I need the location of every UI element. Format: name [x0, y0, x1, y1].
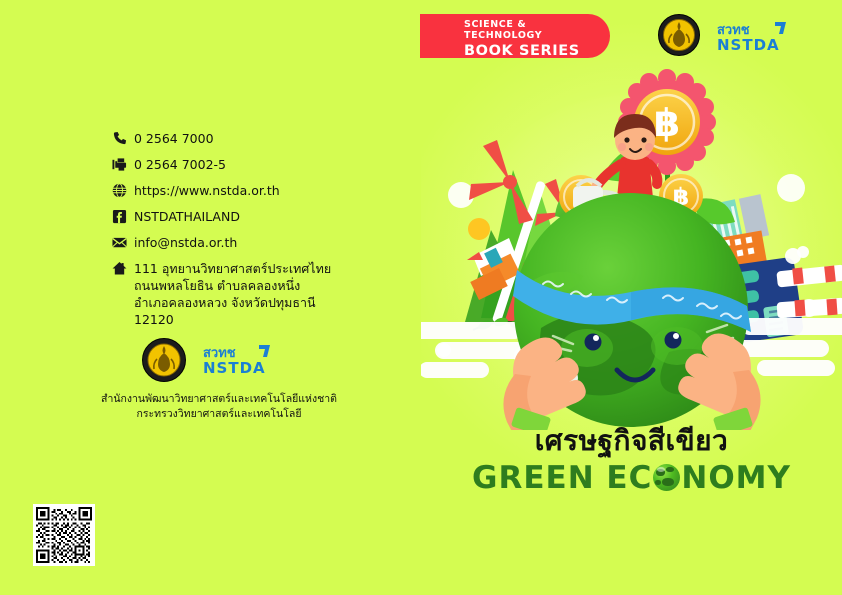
ministry-seal-icon: [142, 338, 186, 382]
contact-row-website: https://www.nstda.or.th: [112, 182, 372, 199]
contact-row-fax: 0 2564 7002-5: [112, 156, 372, 173]
home-icon: [112, 260, 134, 276]
book-cover-page: ฿ ฿ ฿: [0, 0, 842, 595]
contact-row-address: 111 อุทยานวิทยาศาสตร์ประเทศไทย ถนนพหลโยธ…: [112, 260, 372, 328]
badge-line-1: SCIENCE &: [464, 19, 580, 30]
book-title: เศรษฐกิจสีเขียว GREEN ECNOMY: [421, 424, 842, 496]
header-logo: สวทช NSTDA: [658, 14, 808, 62]
contact-row-facebook: NSTDATHAILAND: [112, 208, 372, 225]
qr-code[interactable]: [33, 504, 95, 566]
title-english-part2: NOMY: [681, 460, 791, 496]
badge-line-3: BOOK SERIES: [464, 43, 580, 59]
nstda-wordmark: สวทช NSTDA: [198, 342, 288, 377]
svg-text:NSTDA: NSTDA: [717, 36, 780, 54]
address-line-1: 111 อุทยานวิทยาศาสตร์ประเทศไทย: [134, 260, 331, 277]
book-series-badge: SCIENCE & TECHNOLOGY BOOK SERIES: [420, 14, 610, 58]
title-english: GREEN ECNOMY: [472, 458, 791, 496]
nstda-wordmark: สวทช NSTDA: [711, 19, 806, 55]
green-economy-illustration: ฿ ฿ ฿: [421, 60, 842, 430]
badge-line-2: TECHNOLOGY: [464, 30, 580, 41]
facebook-value: NSTDATHAILAND: [134, 208, 240, 225]
fax-icon: [112, 156, 134, 172]
contact-row-email: info@nstda.or.th: [112, 234, 372, 251]
facebook-icon: [112, 208, 134, 224]
footer-organization-block: สวทช NSTDA สำนักงานพัฒนาวิทยาศาสตร์และเท…: [84, 338, 354, 422]
address-line-2: ถนนพหลโยธิน ตำบลคลองหนึ่ง: [134, 277, 331, 294]
contact-list: 0 2564 7000 0 2564 7002-5: [112, 130, 372, 337]
org-line-2: กระทรวงวิทยาศาสตร์และเทคโนโลยี: [84, 407, 354, 422]
phone-icon: [112, 130, 134, 146]
ministry-seal-icon: [658, 14, 700, 56]
fax-value: 0 2564 7002-5: [134, 156, 226, 173]
svg-text:NSTDA: NSTDA: [203, 359, 266, 377]
address-value: 111 อุทยานวิทยาศาสตร์ประเทศไทย ถนนพหลโยธ…: [134, 260, 331, 328]
email-icon: [112, 234, 134, 250]
phone-value: 0 2564 7000: [134, 130, 214, 147]
globe-letter-o-icon: [653, 464, 680, 491]
address-line-4: 12120: [134, 311, 331, 328]
organization-name: สำนักงานพัฒนาวิทยาศาสตร์และเทคโนโลยีแห่ง…: [84, 392, 354, 422]
svg-text:฿: ฿: [654, 101, 680, 145]
contact-row-phone: 0 2564 7000: [112, 130, 372, 147]
title-thai: เศรษฐกิจสีเขียว: [421, 424, 842, 458]
email-value: info@nstda.or.th: [134, 234, 237, 251]
website-value: https://www.nstda.or.th: [134, 182, 280, 199]
globe-icon: [112, 182, 134, 198]
footer-logos: สวทช NSTDA: [142, 338, 354, 386]
title-english-part1: GREEN EC: [472, 460, 652, 496]
address-line-3: อำเภอคลองหลวง จังหวัดปทุมธานี: [134, 294, 331, 311]
org-line-1: สำนักงานพัฒนาวิทยาศาสตร์และเทคโนโลยีแห่ง…: [84, 392, 354, 407]
